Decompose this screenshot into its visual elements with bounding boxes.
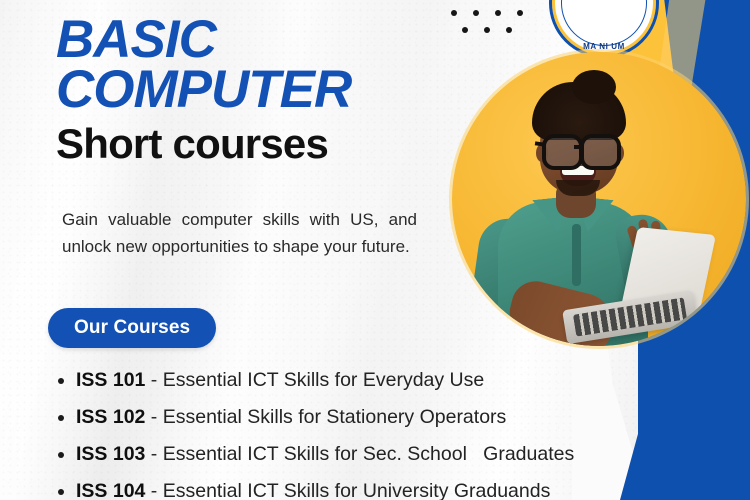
- list-item: ISS 103 - Essential ICT Skills for Sec. …: [52, 436, 712, 473]
- list-item: ISS 102 - Essential Skills for Stationer…: [52, 399, 712, 436]
- grid-dot: [484, 27, 490, 33]
- intro-paragraph: Gain valuable computer skills with US, a…: [62, 206, 417, 260]
- eyeglasses-temple: [535, 141, 545, 146]
- poster-canvas: MA NI UM: [0, 0, 750, 500]
- grid-dot: [506, 27, 512, 33]
- course-description: Essential ICT Skills for Everyday Use: [163, 369, 485, 391]
- person-hair-top: [572, 70, 616, 104]
- course-dash: -: [145, 443, 162, 465]
- headline-line-1: BASIC: [56, 14, 476, 66]
- eyeglasses-right-lens: [580, 134, 621, 170]
- list-item: ISS 104 - Essential ICT Skills for Unive…: [52, 473, 712, 500]
- course-dash: -: [145, 406, 162, 428]
- course-description: Essential Skills for Stationery Operator…: [163, 406, 507, 428]
- portrait-photo: [452, 52, 746, 346]
- seal-text: MA NI UM: [552, 42, 656, 51]
- portrait-yellow-disc: [452, 52, 746, 346]
- grid-dot: [495, 10, 501, 16]
- course-list: ISS 101 - Essential ICT Skills for Every…: [52, 362, 712, 500]
- person-shirt-placket: [572, 224, 581, 286]
- institution-seal-logo: MA NI UM: [549, 0, 659, 58]
- course-code: ISS 101: [76, 369, 145, 391]
- eyeglasses-left-lens: [542, 134, 583, 170]
- course-code: ISS 103: [76, 443, 145, 465]
- our-courses-badge: Our Courses: [48, 308, 216, 348]
- course-description: Essential ICT Skills for University Grad…: [163, 480, 551, 500]
- eyeglasses-bridge: [574, 145, 582, 149]
- course-dash: -: [145, 369, 162, 391]
- grid-dot: [517, 10, 523, 16]
- headline-subline: Short courses: [56, 122, 328, 166]
- course-description: Essential ICT Skills for Sec. School Gra…: [163, 443, 574, 465]
- person-illustration: [452, 52, 746, 346]
- headline-line-2: COMPUTER: [56, 64, 476, 116]
- course-dash: -: [145, 480, 162, 500]
- seal-inner-ring: [561, 0, 647, 46]
- course-code: ISS 104: [76, 480, 145, 500]
- headline-group: BASIC COMPUTER: [56, 14, 476, 116]
- course-code: ISS 102: [76, 406, 145, 428]
- list-item: ISS 101 - Essential ICT Skills for Every…: [52, 362, 712, 399]
